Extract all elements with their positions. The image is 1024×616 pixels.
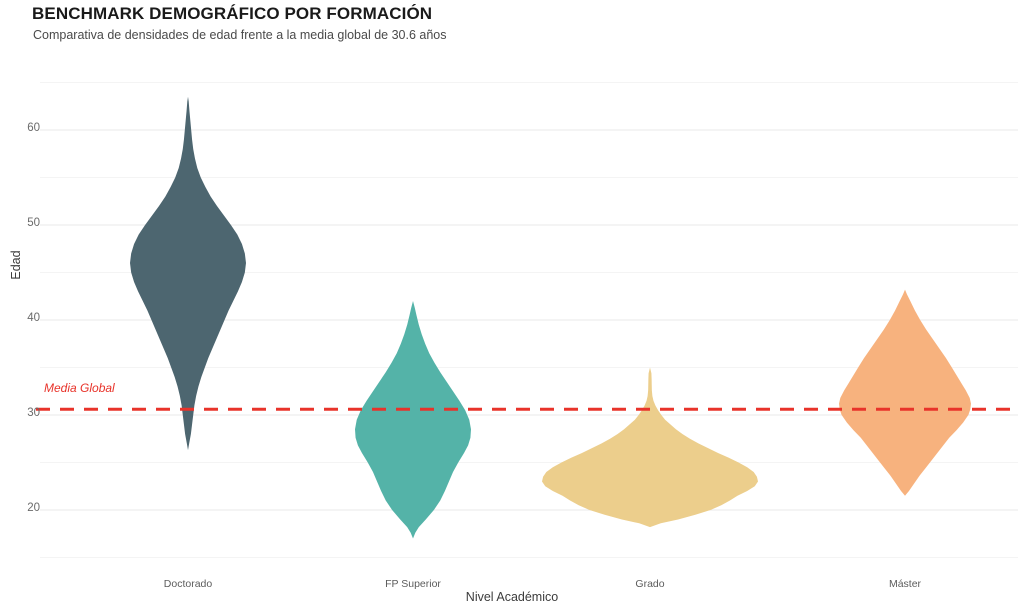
x-tick-label-doctorado: Doctorado bbox=[164, 578, 212, 590]
x-tick-label-máster: Máster bbox=[889, 578, 921, 590]
violin-chart: BENCHMARK DEMOGRÁFICO POR FORMACIÓN Comp… bbox=[0, 0, 1024, 616]
violin-grado bbox=[542, 368, 758, 528]
mean-line-label: Media Global bbox=[44, 381, 115, 395]
y-tick-label: 40 bbox=[6, 312, 40, 324]
violin-doctorado bbox=[130, 97, 246, 450]
x-axis-title: Nivel Académico bbox=[0, 590, 1024, 604]
violin-fp-superior bbox=[355, 301, 471, 539]
y-tick-label: 30 bbox=[6, 407, 40, 419]
y-axis-title: Edad bbox=[9, 235, 23, 295]
x-tick-label-grado: Grado bbox=[635, 578, 664, 590]
plot-area bbox=[0, 0, 1024, 616]
violin-máster bbox=[839, 290, 971, 496]
y-tick-label: 60 bbox=[6, 122, 40, 134]
y-tick-label: 20 bbox=[6, 502, 40, 514]
y-tick-label: 50 bbox=[6, 217, 40, 229]
x-tick-label-fp-superior: FP Superior bbox=[385, 578, 441, 590]
